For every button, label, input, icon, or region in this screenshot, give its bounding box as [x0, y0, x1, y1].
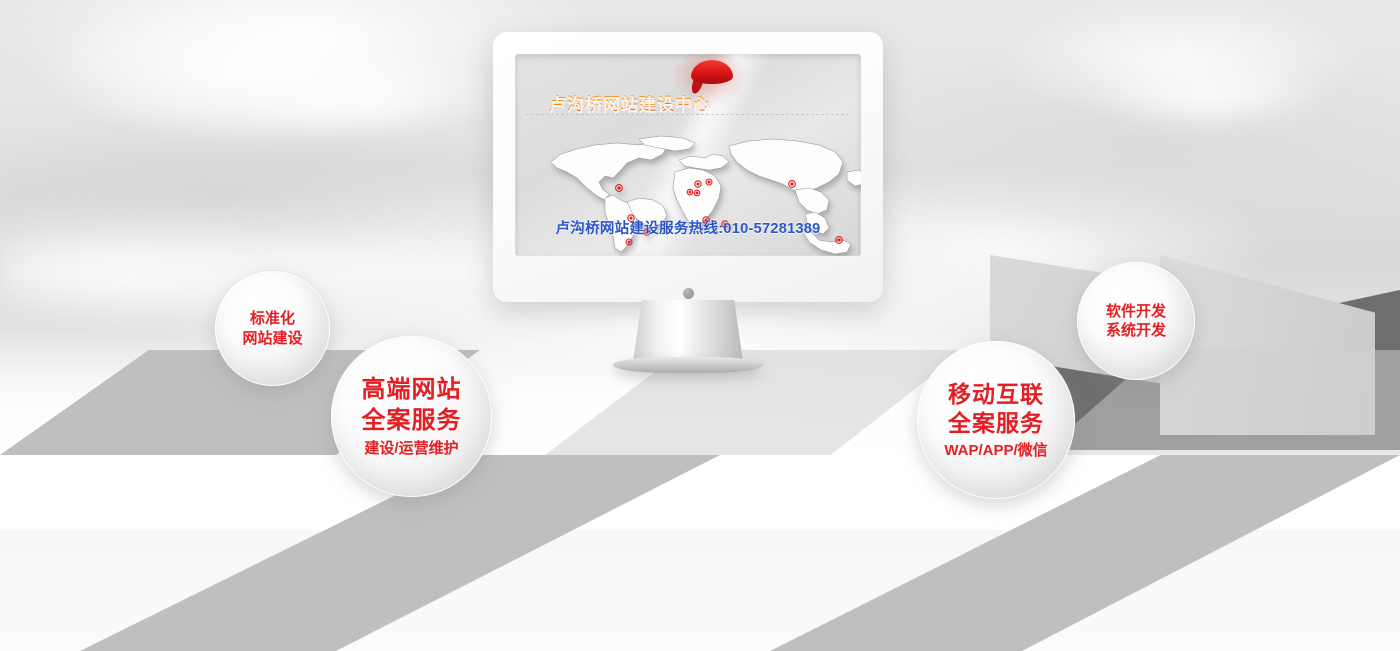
bubble-standard-website[interactable]: 标准化 网站建设 [215, 271, 330, 386]
bubble-line-2: 全案服务 [948, 409, 1044, 438]
screen-hotline: 卢沟桥网站建设服务热线:010-57281389 [515, 217, 861, 238]
floor-tile-right-near [770, 455, 1400, 651]
floor-tile-right-far [1040, 350, 1400, 455]
bubble-mobile-internet[interactable]: 移动互联 全案服务 WAP/APP/微信 [917, 341, 1075, 499]
monitor: 卢沟桥网站建设中心 卢沟桥网站建设中心 卢沟桥网站建设服务热线:010-5728… [493, 32, 883, 302]
bubble-highend-website[interactable]: 高端网站 全案服务 建设/运营维护 [331, 336, 492, 497]
bubble-line-1: 移动互联 [948, 380, 1044, 409]
monitor-stand-base [613, 357, 763, 373]
monitor-screen: 卢沟桥网站建设中心 卢沟桥网站建设中心 卢沟桥网站建设服务热线:010-5728… [515, 54, 861, 256]
bubble-line-2: 全案服务 [362, 406, 462, 437]
perspective-floor [0, 330, 1400, 651]
bubble-line-1: 软件开发 [1106, 302, 1166, 321]
bubble-line-3: 建设/运营维护 [364, 439, 458, 458]
bubble-line-1: 标准化 [250, 309, 295, 328]
bubble-line-2: 网站建设 [242, 329, 302, 348]
bubble-line-2: 系统开发 [1106, 321, 1166, 340]
banner-stage: 卢沟桥网站建设中心 卢沟桥网站建设中心 卢沟桥网站建设服务热线:010-5728… [0, 0, 1400, 651]
bubble-line-1: 高端网站 [362, 375, 462, 406]
monitor-stand-neck [633, 300, 743, 362]
location-pin-icon [687, 56, 733, 96]
bubble-software-development[interactable]: 软件开发 系统开发 [1077, 262, 1195, 380]
bubble-line-3: WAP/APP/微信 [944, 441, 1047, 460]
monitor-logo-dot [683, 288, 694, 299]
